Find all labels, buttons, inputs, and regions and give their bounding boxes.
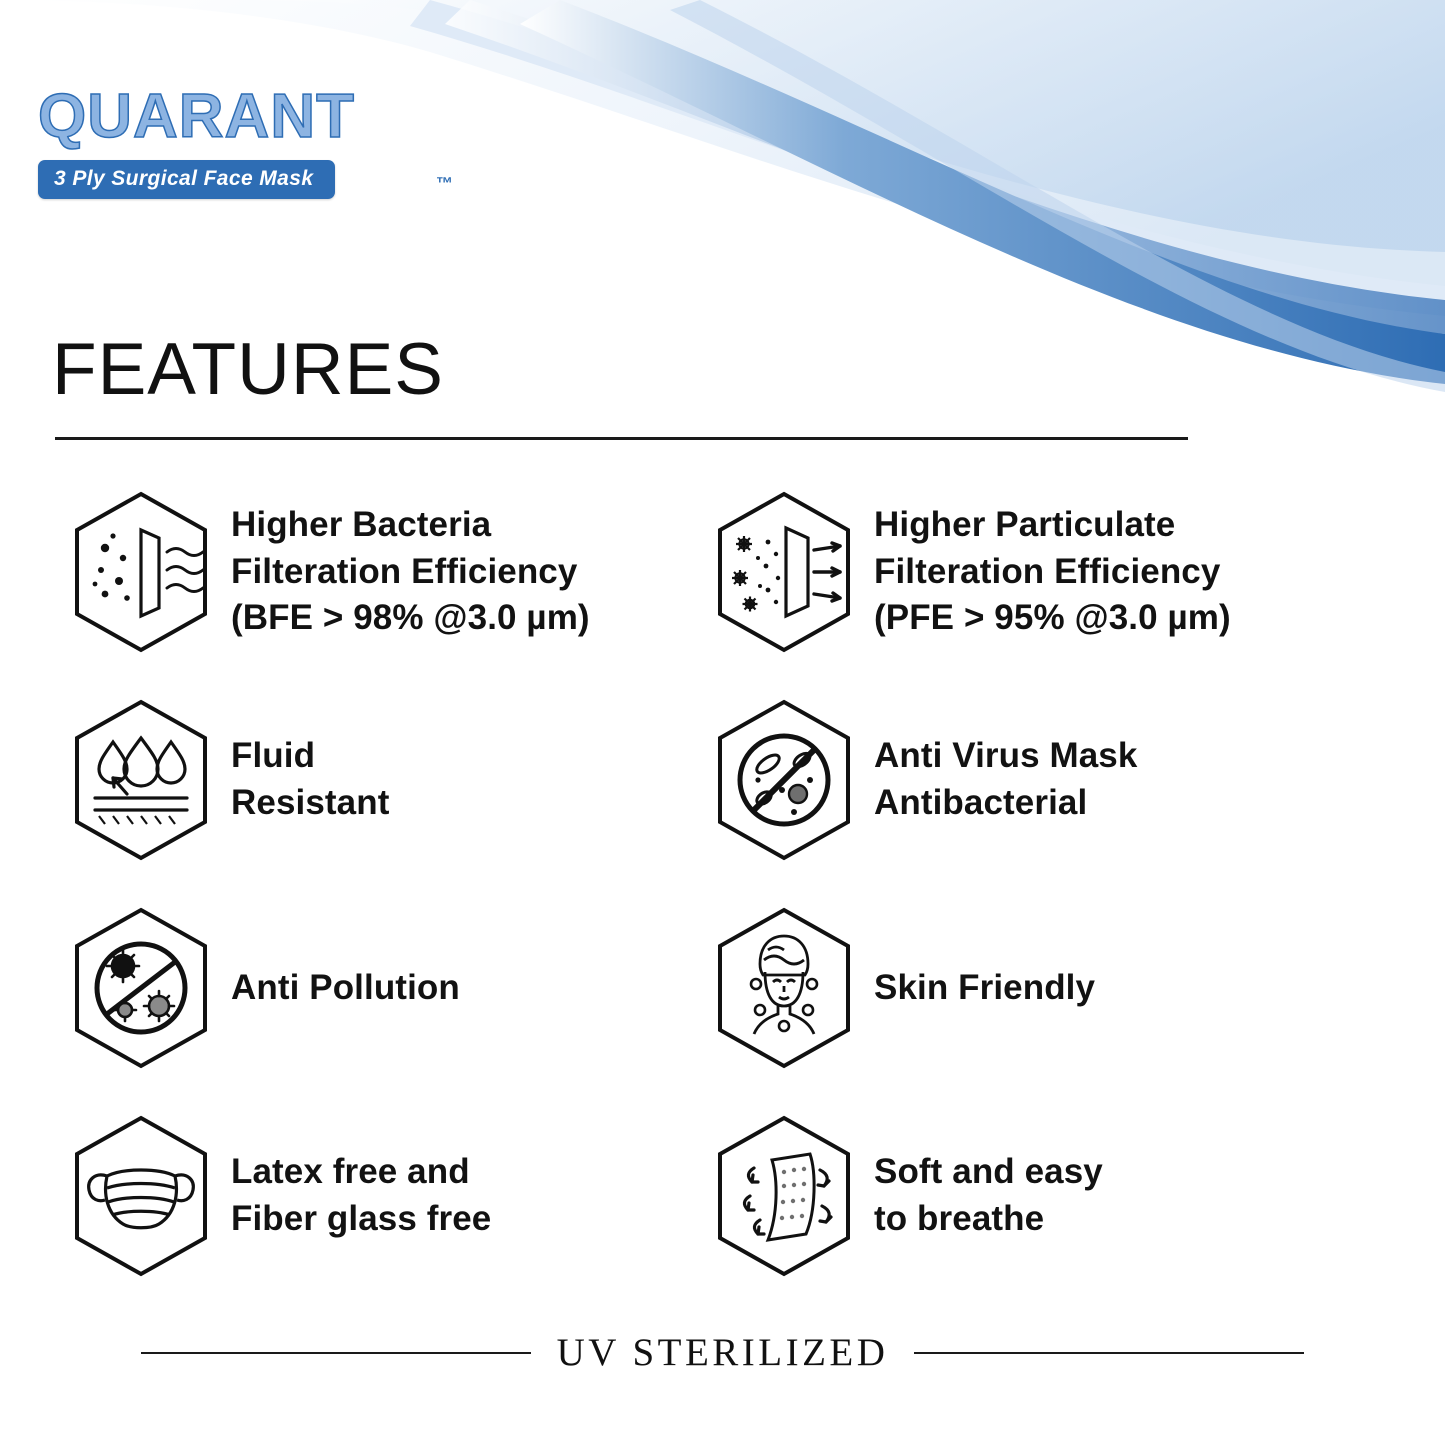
skin-friendly-face-icon (698, 902, 870, 1074)
fluid-resistant-droplets-icon (55, 694, 227, 866)
feature-label: Anti Virus Mask Antibacterial (874, 733, 1137, 826)
features-grid: Higher Bacteria Filteration Efficiency (… (55, 468, 1345, 1300)
anti-virus-prohibited-icon (698, 694, 870, 866)
feature-label: Latex free and Fiber glass free (231, 1149, 491, 1242)
page-title: FEATURES (52, 333, 444, 406)
feature-label: Higher Bacteria Filteration Efficiency (… (231, 502, 590, 642)
brand-name: QUARANT (38, 86, 355, 148)
footer-label: UV STERILIZED (531, 1330, 915, 1375)
feature-item: Soft and easy to breathe (698, 1092, 1323, 1300)
trademark-icon: ™ (436, 174, 453, 194)
feature-item: Higher Bacteria Filteration Efficiency (… (55, 468, 680, 676)
title-divider (55, 437, 1188, 440)
bacteria-filtration-icon (55, 486, 227, 658)
feature-item: Skin Friendly (698, 884, 1323, 1092)
feature-label: Fluid Resistant (231, 733, 389, 826)
feature-label: Higher Particulate Filteration Efficienc… (874, 502, 1231, 642)
feature-item: Higher Particulate Filteration Efficienc… (698, 468, 1323, 676)
footer-rule-left (141, 1352, 531, 1354)
feature-label: Soft and easy to breathe (874, 1149, 1103, 1242)
feature-item: Anti Pollution (55, 884, 680, 1092)
breathable-fabric-icon (698, 1110, 870, 1282)
face-mask-icon (55, 1110, 227, 1282)
brand-tagline-badge: 3 Ply Surgical Face Mask (38, 160, 335, 199)
brand-tagline: 3 Ply Surgical Face Mask (54, 167, 313, 190)
footer-rule-right (914, 1352, 1304, 1354)
feature-item: Latex free and Fiber glass free (55, 1092, 680, 1300)
particulate-filtration-icon (698, 486, 870, 658)
footer-banner: UV STERILIZED (0, 1330, 1445, 1375)
feature-item: Fluid Resistant (55, 676, 680, 884)
brand-block: QUARANT ™ 3 Ply Surgical Face Mask (38, 86, 508, 199)
feature-label: Anti Pollution (231, 965, 460, 1012)
feature-item: Anti Virus Mask Antibacterial (698, 676, 1323, 884)
anti-pollution-germs-icon (55, 902, 227, 1074)
feature-label: Skin Friendly (874, 965, 1095, 1012)
